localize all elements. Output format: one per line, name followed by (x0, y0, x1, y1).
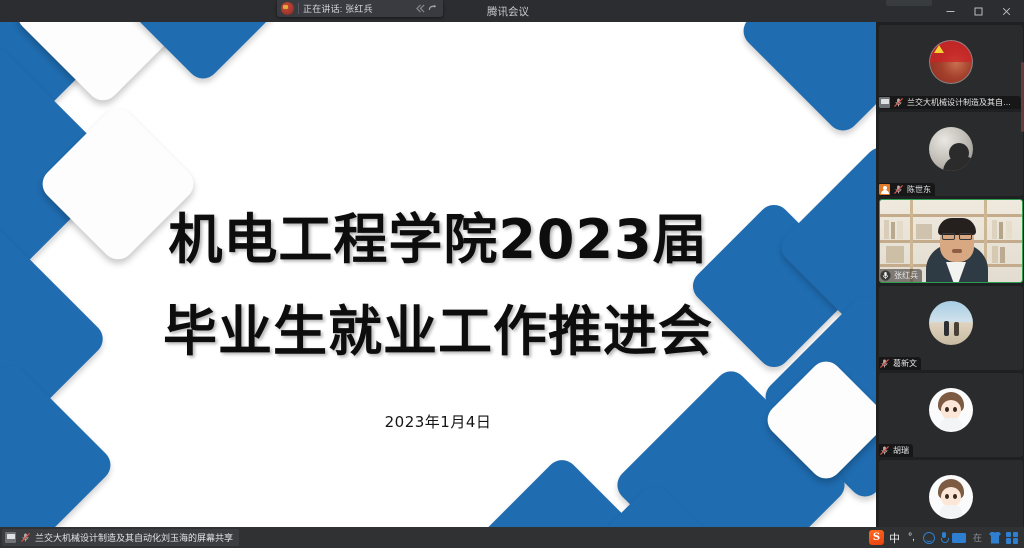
person-icon (879, 184, 890, 195)
tencent-meeting-window: 腾讯会议 正在讲话: 张红兵 (0, 0, 1024, 548)
window-edge-artifact (886, 0, 932, 6)
pill-controls (416, 4, 439, 13)
voice-input-icon[interactable] (940, 532, 947, 543)
participant-name-bar: 张红兵 (880, 269, 922, 282)
toolbox-icon[interactable] (1006, 532, 1018, 544)
participant-name-bar: 胡瑞 (879, 444, 913, 457)
mic-muted-icon (879, 358, 890, 369)
participant-tile[interactable]: 兰交大机械设计制造及其自动化... (879, 25, 1023, 109)
mic-muted-icon (879, 445, 890, 456)
restore-icon[interactable] (428, 4, 437, 13)
mic-muted-icon (20, 532, 31, 543)
system-tray: S 中 °, 在 (869, 527, 1022, 548)
ime-punctuation-icon[interactable]: °, (905, 531, 918, 544)
participant-name: 胡瑞 (893, 445, 909, 456)
avatar (929, 127, 973, 171)
keyboard-icon[interactable] (952, 533, 966, 543)
avatar (929, 388, 973, 432)
avatar (929, 301, 973, 345)
window-title: 腾讯会议 (487, 4, 529, 19)
emoji-icon[interactable] (923, 532, 935, 544)
participant-tile[interactable]: 胡瑞 (879, 373, 1023, 457)
handwriting-icon[interactable]: 在 (971, 531, 984, 544)
mic-muted-icon (893, 97, 904, 108)
participant-tile[interactable]: 张娇丽 (879, 460, 1023, 527)
now-speaking-bar[interactable]: 正在讲话: 张红兵 (277, 0, 443, 17)
presentation-slide: 机电工程学院2023届 毕业生就业工作推进会 2023年1月4日 (0, 22, 876, 527)
ime-language-indicator[interactable]: 中 (889, 530, 900, 546)
participant-name-bar: 兰交大机械设计制造及其自动化... (879, 96, 1021, 109)
participant-tile-active-speaker[interactable]: 张红兵 (879, 199, 1023, 283)
mic-active-icon (880, 270, 891, 281)
decor-square (737, 22, 876, 137)
screen-share-icon (879, 97, 890, 108)
mic-muted-icon (893, 184, 904, 195)
speaker-avatar-icon (281, 2, 294, 15)
avatar (929, 40, 973, 84)
slide-title-line-1: 机电工程学院2023届 (168, 213, 707, 267)
participant-name: 兰交大机械设计制造及其自动化... (907, 97, 1017, 108)
participant-name-bar: 葛新文 (879, 357, 921, 370)
minimize-button[interactable] (936, 1, 964, 21)
taskbar-share-label: 兰交大机械设计制造及其自动化刘玉海的屏幕共享 (35, 531, 233, 544)
window-title-area: 腾讯会议 (0, 0, 1024, 22)
participant-name-bar: 陈世东 (879, 183, 935, 196)
taskbar-share-item[interactable]: 兰交大机械设计制造及其自动化刘玉海的屏幕共享 (2, 529, 239, 546)
slide-title-line-2: 毕业生就业工作推进会 (163, 305, 713, 359)
participant-rail[interactable]: 兰交大机械设计制造及其自动化... 陈世东 (876, 22, 1024, 527)
taskbar: 兰交大机械设计制造及其自动化刘玉海的屏幕共享 S 中 °, 在 (0, 527, 1024, 548)
sogou-ime-icon[interactable]: S (869, 530, 884, 545)
maximize-button[interactable] (964, 1, 992, 21)
window-controls (936, 0, 1020, 22)
divider (298, 3, 299, 14)
title-bar: 腾讯会议 (0, 0, 1024, 22)
close-button[interactable] (992, 1, 1020, 21)
participant-name: 陈世东 (907, 184, 931, 195)
participant-tile[interactable]: 陈世东 (879, 112, 1023, 196)
participant-name: 张红兵 (894, 270, 918, 281)
avatar (929, 475, 973, 519)
shared-screen-stage: 机电工程学院2023届 毕业生就业工作推进会 2023年1月4日 (0, 22, 876, 527)
participant-name: 葛新文 (893, 358, 917, 369)
participant-tile[interactable]: 葛新文 (879, 286, 1023, 370)
slide-date: 2023年1月4日 (385, 411, 492, 432)
now-speaking-label: 正在讲话: 张红兵 (303, 2, 412, 15)
collapse-icon[interactable] (416, 4, 425, 13)
skin-icon[interactable] (989, 532, 1001, 544)
screen-share-icon (5, 532, 16, 543)
